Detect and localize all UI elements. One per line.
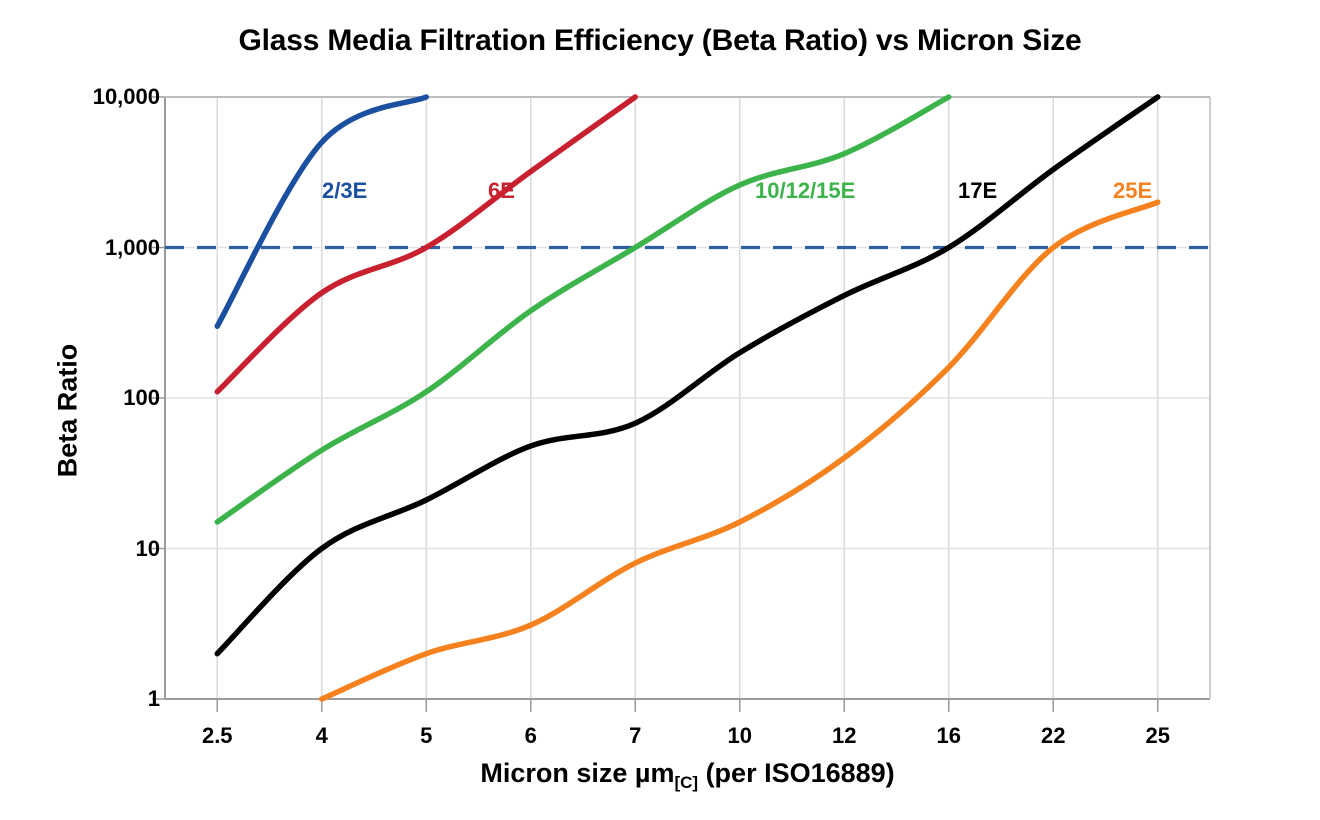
series-label-17E: 17E (958, 180, 997, 202)
series-label-6E: 6E (488, 180, 515, 202)
tick-marks (152, 97, 1158, 712)
y-tick-label: 1,000 (0, 237, 160, 259)
series-label-25E: 25E (1113, 180, 1152, 202)
series-label-2-3E: 2/3E (322, 180, 367, 202)
x-axis-title: Micron size µm[C] (per ISO16889) (165, 758, 1210, 793)
y-tick-label: 100 (0, 387, 160, 409)
x-tick-label: 7 (590, 725, 680, 747)
x-tick-label: 2.5 (172, 725, 262, 747)
x-tick-label: 16 (904, 725, 994, 747)
x-tick-label: 4 (277, 725, 367, 747)
x-axis-title-main: Micron size µm (480, 758, 674, 788)
x-tick-label: 5 (381, 725, 471, 747)
x-tick-label: 6 (486, 725, 576, 747)
x-tick-label: 22 (1008, 725, 1098, 747)
x-tick-label: 10 (695, 725, 785, 747)
plot-area (0, 0, 1320, 820)
y-tick-label: 10 (0, 538, 160, 560)
y-tick-label: 1 (0, 688, 160, 710)
chart-canvas: Glass Media Filtration Efficiency (Beta … (0, 0, 1320, 820)
y-tick-label: 10,000 (0, 86, 160, 108)
series-label-10-12-15E: 10/12/15E (755, 180, 855, 202)
x-axis-title-tail: (per ISO16889) (698, 758, 895, 788)
x-tick-label: 25 (1113, 725, 1203, 747)
x-tick-label: 12 (799, 725, 889, 747)
series-curve-10-12-15E (217, 97, 949, 522)
x-axis-title-subscript: [C] (674, 773, 698, 792)
